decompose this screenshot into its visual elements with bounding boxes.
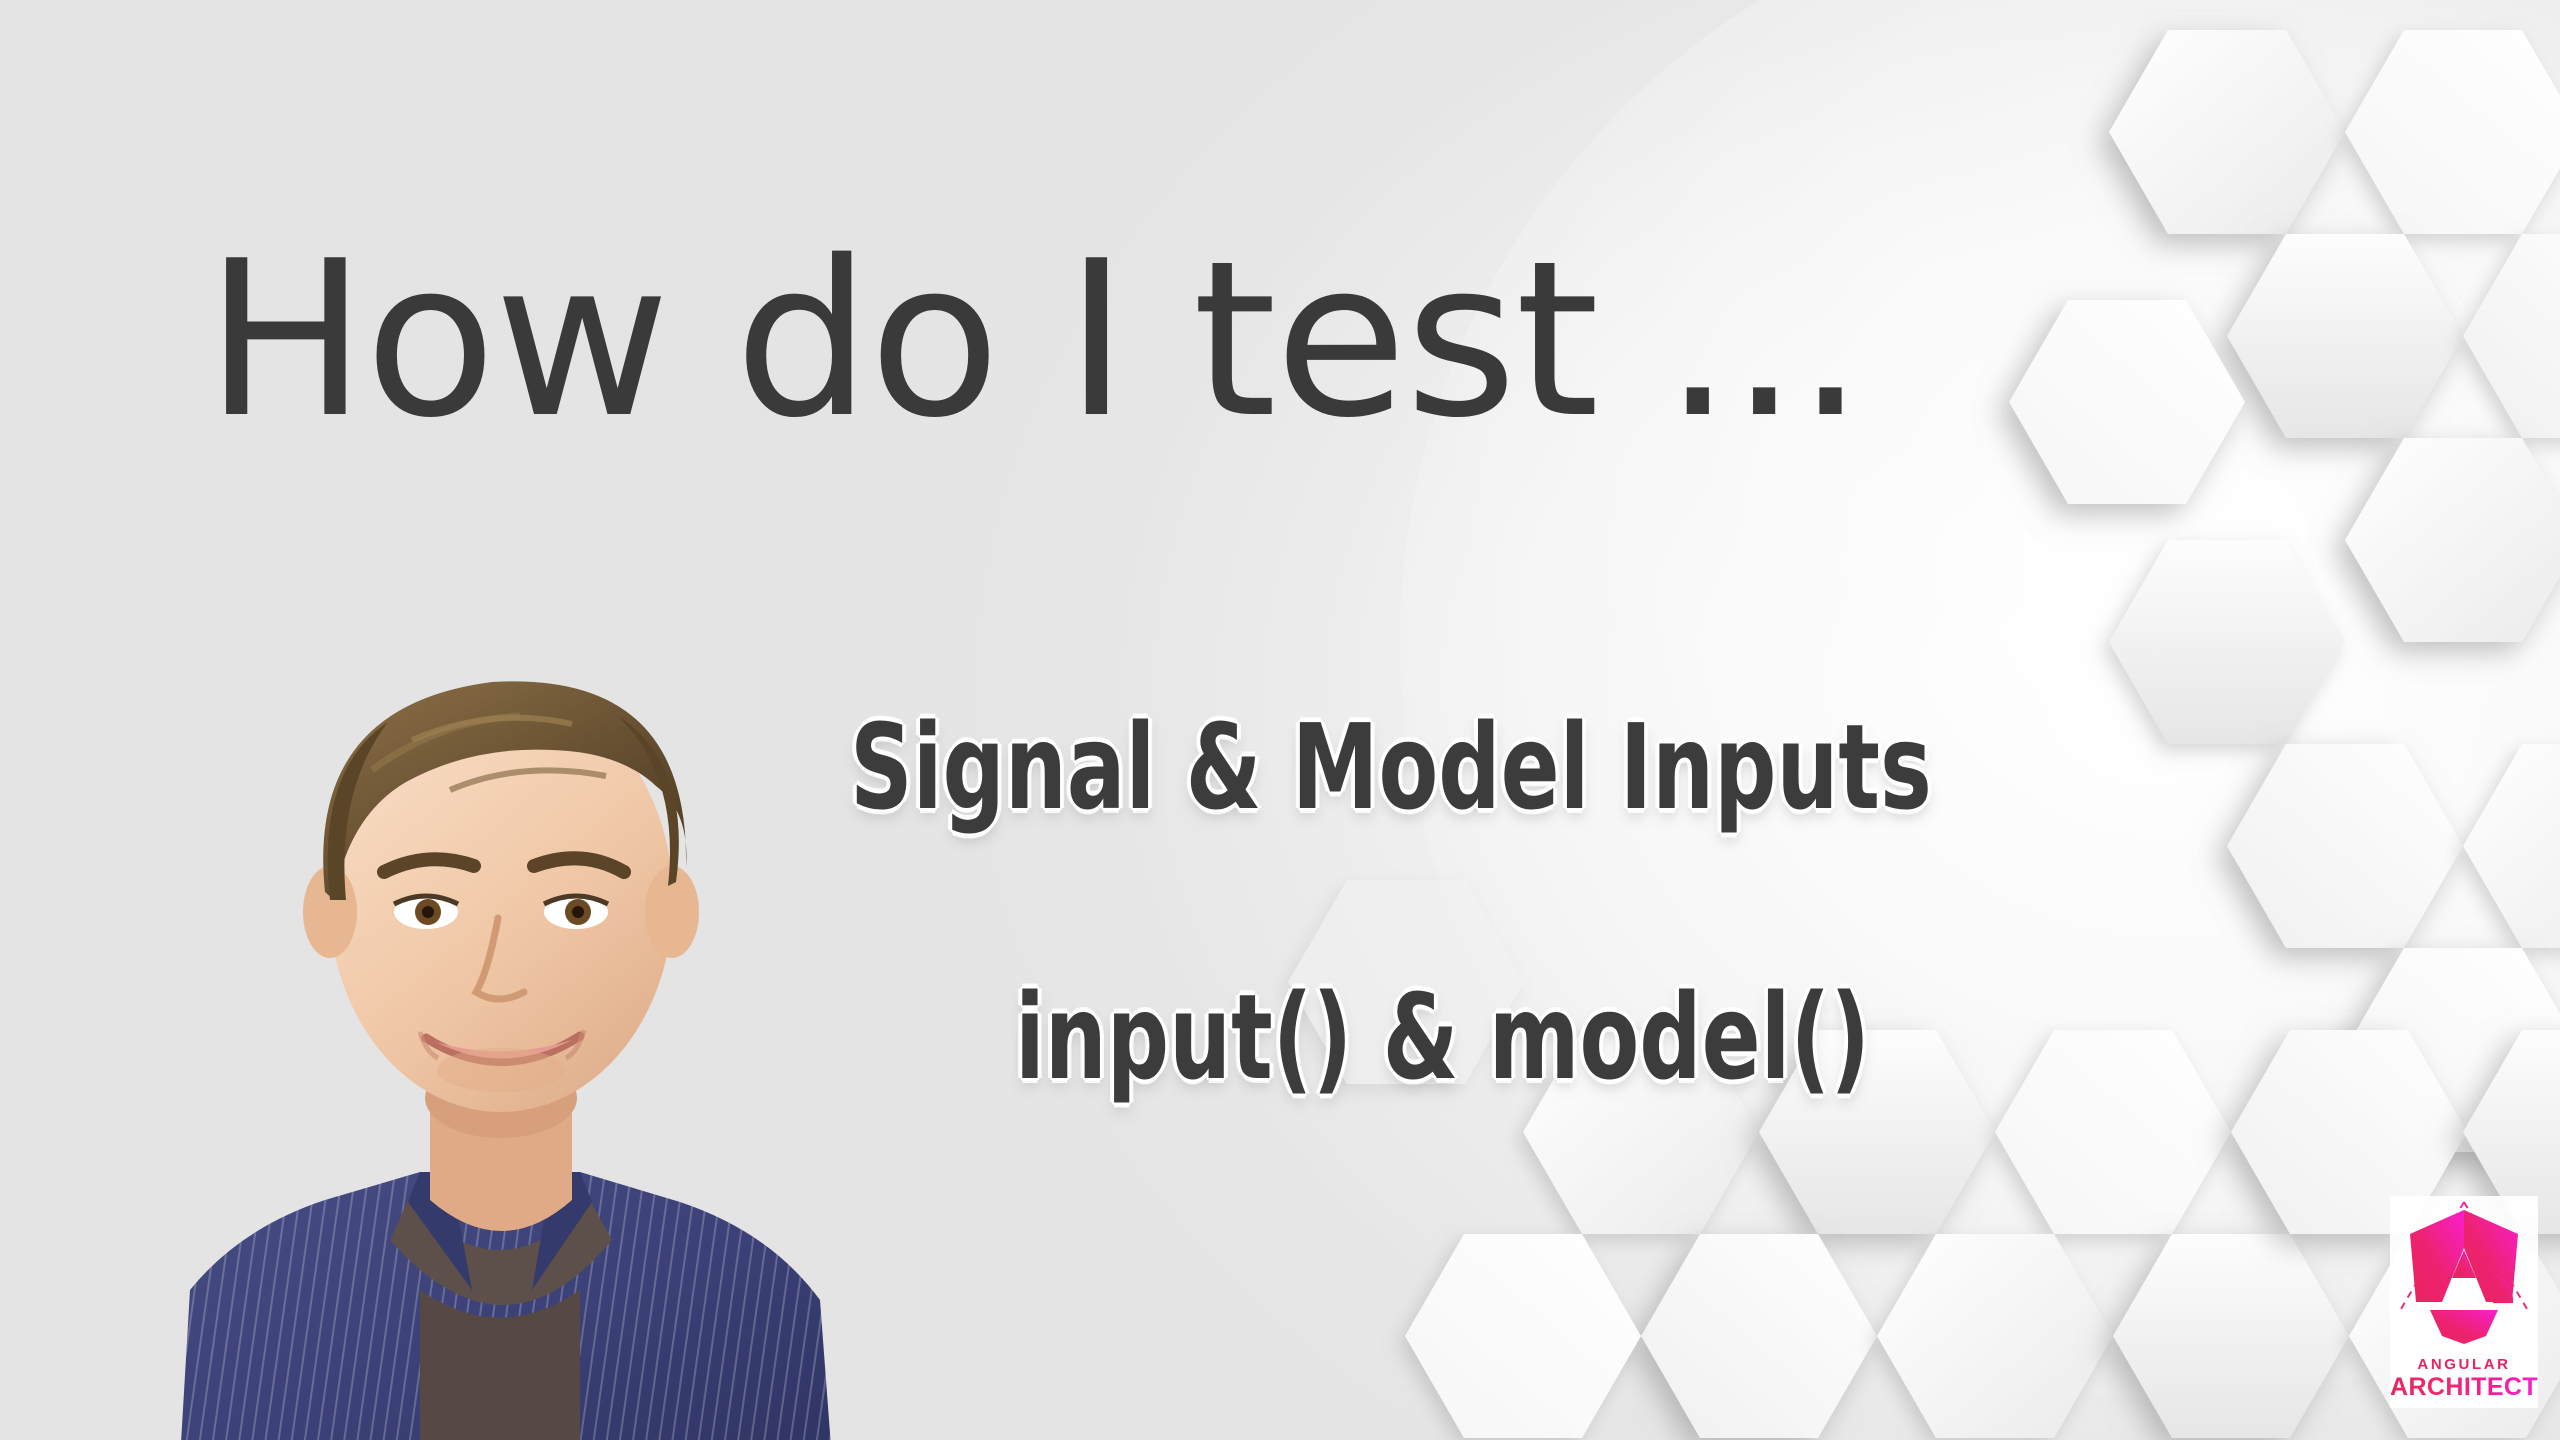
logo-word-architects: ARCHITECTS [2390,1375,2538,1400]
logo-wordmark: ANGULAR ARCHITECTS [2390,1357,2538,1400]
slide-canvas: How do I test ... [0,0,2560,1440]
page-title-text: How do I test ... [205,214,1863,465]
logo-word-angular: ANGULAR [2390,1357,2538,1372]
page-title: How do I test ... [205,232,1863,447]
angular-shield-icon [2410,1210,2518,1344]
subtitle-line-2: input() & model() [1015,968,1870,1106]
subtitle-line-1: Signal & Model Inputs [850,698,1932,836]
angular-architects-logo[interactable]: ANGULAR ARCHITECTS [2390,1196,2538,1408]
avatar [120,600,880,1440]
